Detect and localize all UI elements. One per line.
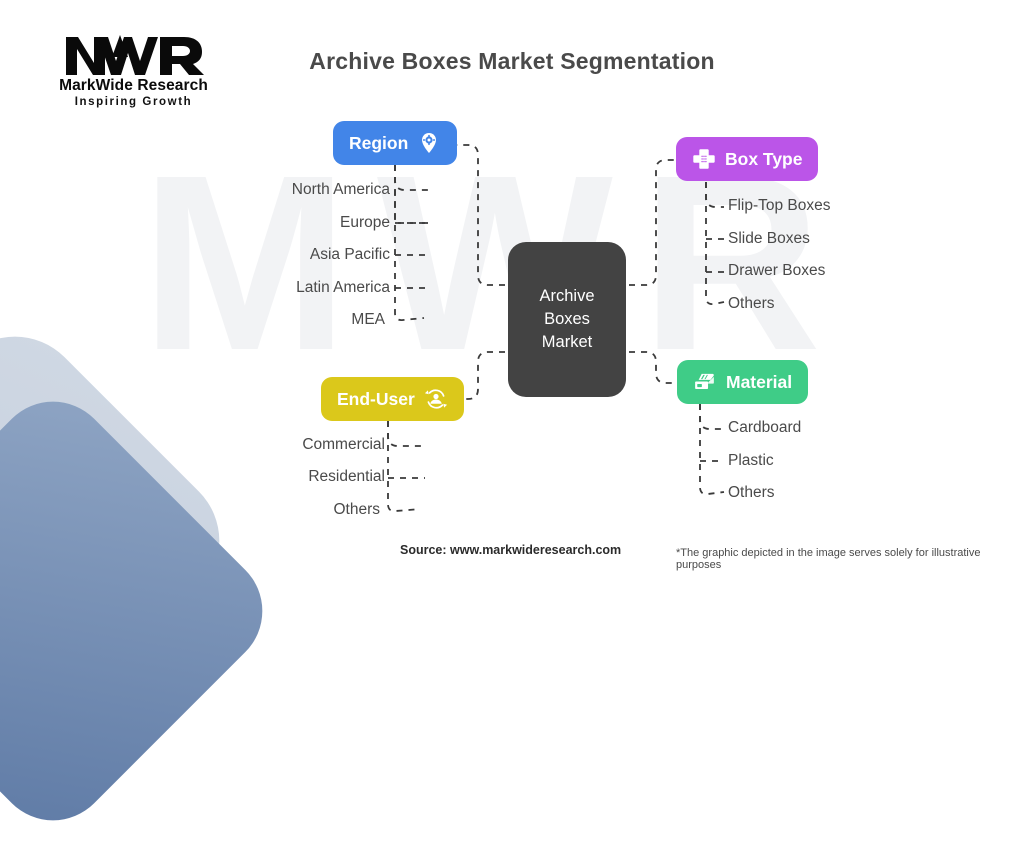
leaf-box-type-3: Others	[728, 295, 775, 313]
branch-badge-region[interactable]: Region	[333, 121, 457, 165]
page-title: Archive Boxes Market Segmentation	[0, 48, 1024, 75]
leaf-box-type-2: Drawer Boxes	[728, 262, 825, 280]
leaf-end-user-0: Commercial	[180, 436, 385, 454]
watermark-text: MWR	[0, 155, 1000, 370]
leaf-region-2: Asia Pacific	[180, 246, 390, 264]
leaf-region-3: Latin America	[180, 279, 390, 297]
leaf-material-1: Plastic	[728, 452, 774, 470]
center-node-line-2: Boxes	[539, 308, 594, 331]
branch-badge-box-type[interactable]: Box Type	[676, 137, 818, 181]
leaf-end-user-2: Others	[180, 501, 380, 519]
branch-badge-end-user[interactable]: End-User	[321, 377, 464, 421]
disclaimer-text: *The graphic depicted in the image serve…	[676, 547, 1024, 571]
branch-badge-material[interactable]: Material	[677, 360, 808, 404]
branch-label-box-type: Box Type	[725, 149, 802, 170]
center-node-line-1: Archive	[539, 285, 594, 308]
leaf-region-4: MEA	[180, 311, 385, 329]
leaf-box-type-0: Flip-Top Boxes	[728, 197, 831, 215]
leaf-region-1: Europe	[180, 214, 390, 232]
flat-box-icon	[692, 147, 716, 171]
logo-company-name: MarkWide Research	[36, 77, 231, 95]
logo-tagline: Inspiring Growth	[36, 96, 231, 108]
leaf-material-0: Cardboard	[728, 419, 801, 437]
leaf-region-0: North America	[180, 181, 390, 199]
map-pin-icon	[417, 131, 441, 155]
leaf-material-2: Others	[728, 484, 775, 502]
leaf-end-user-1: Residential	[180, 468, 385, 486]
center-node: Archive Boxes Market	[508, 242, 626, 397]
branch-label-region: Region	[349, 133, 408, 154]
branch-label-end-user: End-User	[337, 389, 415, 410]
material-block-icon	[693, 370, 717, 394]
leaf-box-type-1: Slide Boxes	[728, 230, 810, 248]
branch-label-material: Material	[726, 372, 792, 393]
source-text: Source: www.markwideresearch.com	[400, 543, 621, 557]
infographic-canvas: MWR MarkWide Research Inspiring Growth A…	[0, 0, 1024, 576]
center-node-line-3: Market	[539, 331, 594, 354]
corner-shape-back	[0, 308, 248, 775]
user-cycle-icon	[424, 387, 448, 411]
